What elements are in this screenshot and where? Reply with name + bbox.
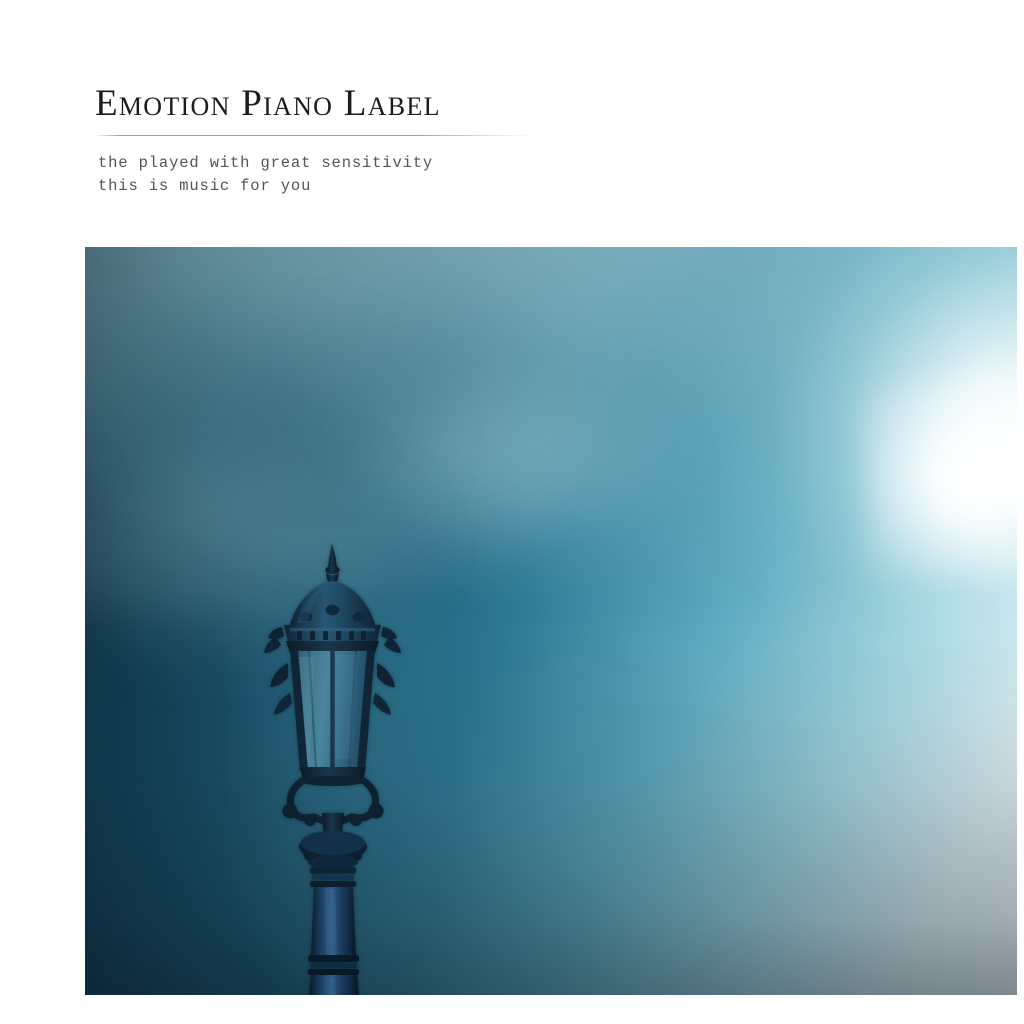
tagline-line-1: the played with great sensitivity [98, 152, 433, 175]
lamp-ring-band-lower [308, 955, 359, 975]
lamp-ring-band-upper [310, 867, 356, 887]
title-divider-rule [95, 135, 535, 136]
lamp-crown-dome [290, 581, 375, 625]
street-lamp [240, 537, 425, 995]
cover-photograph [85, 247, 1017, 995]
tagline: the played with great sensitivity this i… [98, 152, 433, 198]
album-cover: Emotion Piano Label the played with grea… [0, 0, 1024, 1024]
lamp-finial [326, 543, 340, 583]
photo-vignette [85, 247, 1017, 995]
lamp-collar [299, 831, 367, 869]
lamp-base-rail [300, 767, 366, 786]
lamp-column [311, 887, 356, 957]
street-lamp-artwork [240, 537, 425, 995]
masthead: Emotion Piano Label the played with grea… [95, 82, 695, 126]
lamp-column-lower [309, 975, 359, 995]
lamp-glass-lantern [290, 649, 375, 771]
tagline-line-2: this is music for you [98, 175, 433, 198]
album-title: Emotion Piano Label [95, 82, 695, 126]
